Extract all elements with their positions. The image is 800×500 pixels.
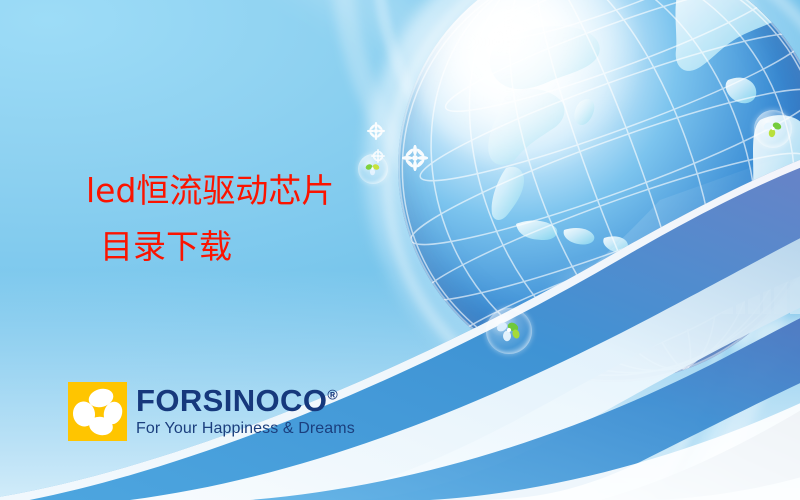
swirl-ribbon-top-right-a (281, 0, 800, 396)
headline-line-2: 目录下载 (100, 219, 334, 275)
pinwheel-icon (495, 319, 523, 343)
city-skyline-silhouette (600, 218, 800, 314)
globe-outer-ring (382, 0, 800, 420)
globe-specular-highlight (412, 0, 642, 168)
pinwheel-flower-icon (68, 382, 127, 441)
pinwheel-icon (365, 162, 381, 176)
globe-sphere (398, 0, 800, 382)
logo-text-block: FORSINOCO® For Your Happiness & Dreams (136, 385, 355, 438)
logo-wordmark-text: FORSINOCO (136, 383, 327, 418)
brand-logo[interactable]: FORSINOCO® For Your Happiness & Dreams (68, 382, 355, 441)
sparkle-asterisk-icon (367, 122, 385, 140)
bubble-pinwheel-small (358, 154, 388, 184)
page-title: led恒流驱动芯片 目录下载 (86, 163, 334, 275)
skyline-light-streak (546, 225, 748, 345)
sparkle-asterisk-icon (402, 145, 428, 171)
bubble-shell (754, 110, 792, 148)
bubble-shell (486, 308, 532, 354)
pinwheel-icon (762, 119, 784, 139)
logo-tagline: For Your Happiness & Dreams (136, 419, 355, 438)
logo-wordmark: FORSINOCO® (136, 385, 355, 416)
globe-grid-lines (398, 0, 800, 382)
headline-line-1: led恒流驱动芯片 (86, 163, 334, 219)
bubble-pinwheel-right (754, 110, 792, 148)
earth-globe (398, 0, 800, 382)
globe-rim-light (398, 0, 800, 382)
sparkle-asterisk-icon (371, 149, 385, 163)
logo-mark (68, 382, 127, 441)
globe-continents (398, 0, 800, 382)
bubble-shell (358, 154, 388, 184)
bubble-pinwheel-large (486, 308, 532, 354)
globe-halo (364, 0, 800, 416)
swirl-ribbon-top-right-b (336, 0, 800, 330)
registered-trademark-icon: ® (327, 387, 338, 403)
banner-canvas: led恒流驱动芯片 目录下载 FORSINOCO® For Your Happi… (0, 0, 800, 500)
